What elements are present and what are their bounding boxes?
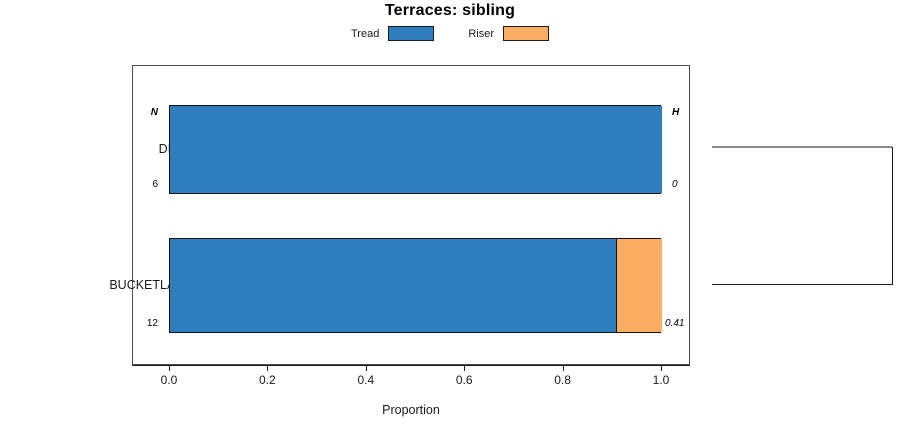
legend: Tread Riser bbox=[0, 26, 900, 41]
bar-segment-tread[interactable] bbox=[170, 239, 616, 332]
bar-segment-tread[interactable] bbox=[170, 106, 662, 193]
panel-top-edge bbox=[712, 146, 892, 148]
x-tick-label: 0.8 bbox=[554, 373, 571, 387]
bar-bucketlake[interactable] bbox=[169, 238, 661, 333]
x-tick-label: 0.4 bbox=[357, 373, 374, 387]
x-tick-label: 0.2 bbox=[259, 373, 276, 387]
h-value-bucketlake: 0.41 bbox=[665, 318, 684, 329]
h-value-digit: 0 bbox=[672, 179, 678, 190]
page-title: Terraces: sibling bbox=[0, 2, 900, 20]
x-tick-label: 0.6 bbox=[456, 373, 473, 387]
x-tick-mark bbox=[169, 365, 170, 371]
h-column-header: H bbox=[672, 107, 679, 118]
legend-item-tread[interactable]: Tread bbox=[351, 26, 434, 41]
bar-digit[interactable] bbox=[169, 105, 661, 194]
x-tick-mark bbox=[464, 365, 465, 371]
x-tick-label: 0.0 bbox=[161, 373, 178, 387]
legend-item-riser[interactable]: Riser bbox=[468, 26, 549, 41]
x-axis-label: Proportion bbox=[132, 403, 690, 417]
chart-canvas: Terraces: sibling Tread Riser DIGIT BUCK… bbox=[0, 0, 900, 440]
n-column-header: N bbox=[130, 107, 158, 118]
x-tick-mark bbox=[267, 365, 268, 371]
empty-right-panel bbox=[712, 147, 893, 285]
x-tick-mark bbox=[563, 365, 564, 371]
x-axis-line bbox=[132, 365, 690, 366]
x-tick-label: 1.0 bbox=[653, 373, 670, 387]
n-value-bucketlake: 12 bbox=[126, 318, 158, 329]
legend-label-riser: Riser bbox=[468, 28, 494, 40]
legend-swatch-tread bbox=[388, 26, 434, 41]
bar-segment-riser[interactable] bbox=[616, 239, 662, 332]
legend-label-tread: Tread bbox=[351, 28, 379, 40]
legend-swatch-riser bbox=[503, 26, 549, 41]
x-tick-mark bbox=[366, 365, 367, 371]
n-value-digit: 6 bbox=[130, 179, 158, 190]
x-tick-mark bbox=[661, 365, 662, 371]
